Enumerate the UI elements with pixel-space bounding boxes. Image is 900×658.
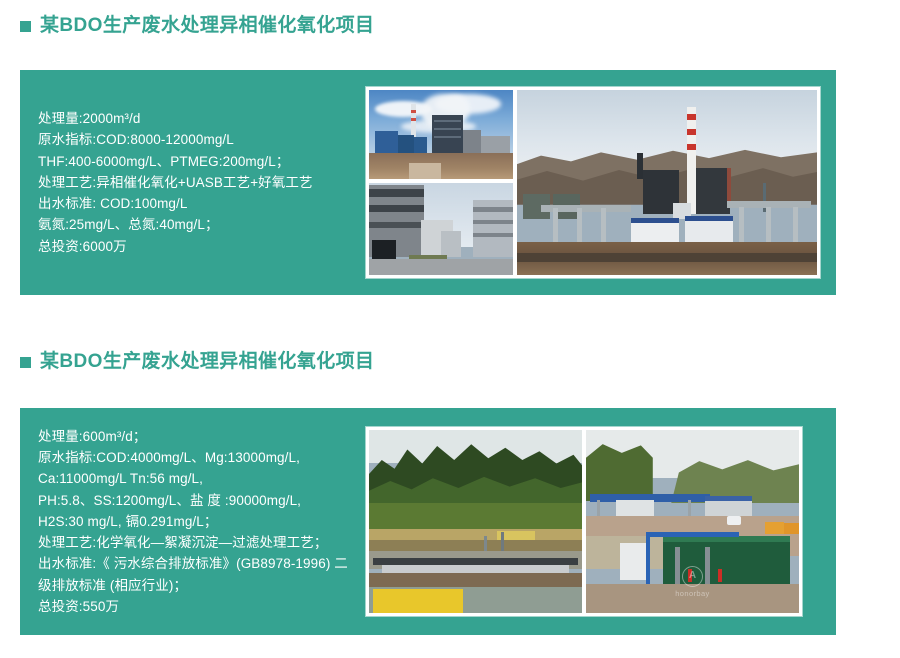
power-plant-chimney-hills-photo [517,90,817,275]
collage-left-column [369,90,513,275]
page-title: 某BDO生产废水处理异相催化氧化项目 [40,16,374,35]
project-details-1: 处理量:2000m³/d 原水指标:COD:8000-12000mg/L THF… [38,108,358,257]
industrial-plant-smokestack-photo [369,90,513,179]
section-heading-1: 某BDO生产废水处理异相催化氧化项目 [0,16,374,35]
project-panel-2: 处理量:600m³/d； 原水指标:COD:4000mg/L、Mg:13000m… [20,408,836,635]
section-heading-2: 某BDO生产废水处理异相催化氧化项目 [0,352,374,371]
green-tank-treatment-plant-photo: A honorbay [586,430,799,613]
factory-street-buildings-photo [369,183,513,275]
project-panel-1: 处理量:2000m³/d 原水指标:COD:8000-12000mg/L THF… [20,70,836,295]
project-details-2: 处理量:600m³/d； 原水指标:COD:4000mg/L、Mg:13000m… [38,426,358,618]
photo-collage-2: A honorbay [366,427,802,616]
photo-collage-1 [366,87,820,278]
square-bullet-icon [20,357,31,368]
square-bullet-icon [20,21,31,32]
page-title-2: 某BDO生产废水处理异相催化氧化项目 [40,352,374,371]
sedimentation-tank-forest-photo [369,430,582,613]
